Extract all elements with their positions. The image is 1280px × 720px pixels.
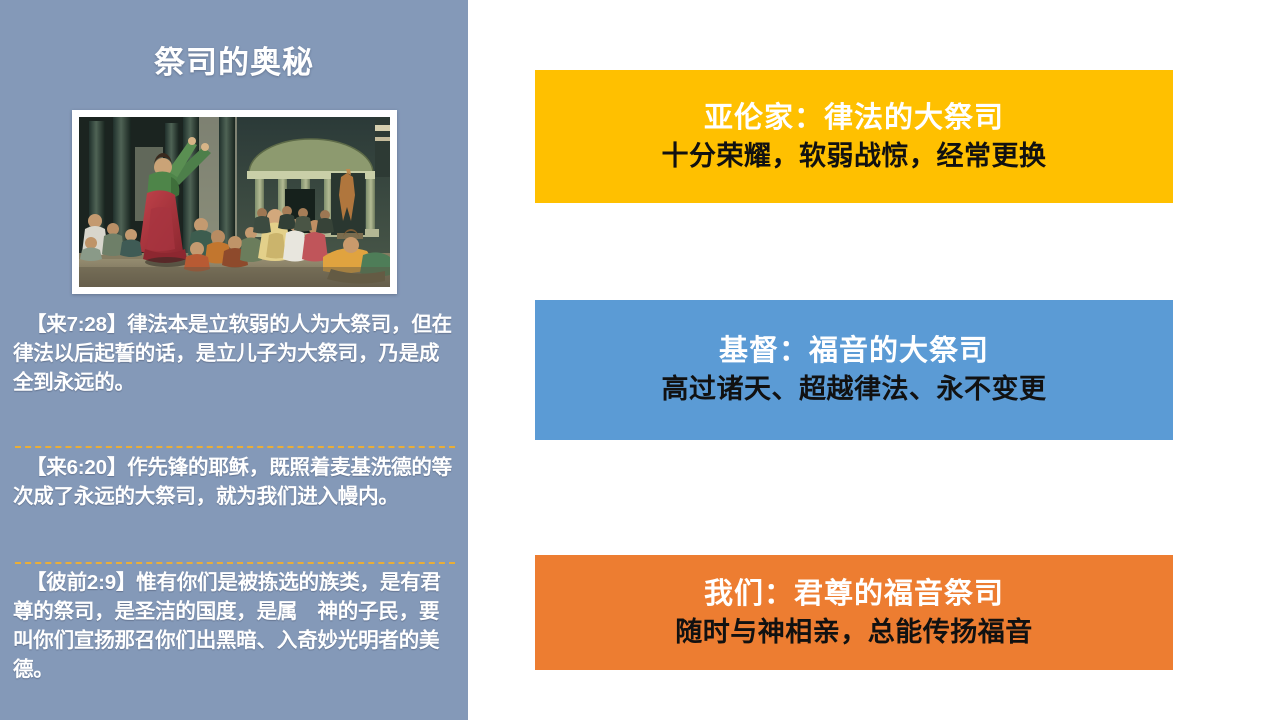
scripture-text: 【彼前2:9】惟有你们是被拣选的族类，是有君尊的祭司，是圣洁的国度，是属 神的子… <box>0 568 468 684</box>
scripture-block-hebrews-7-28: 【来7:28】律法本是立软弱的人为大祭司，但在律法以后起誓的话，是立儿子为大祭司… <box>0 310 468 397</box>
callout-christ-priesthood: 基督：福音的大祭司 高过诸天、超越律法、永不变更 <box>535 300 1173 440</box>
callout-heading: 基督：福音的大祭司 <box>719 333 989 369</box>
scripture-block-1peter-2-9: 【彼前2:9】惟有你们是被拣选的族类，是有君尊的祭司，是圣洁的国度，是属 神的子… <box>0 568 468 684</box>
callout-aaron-priesthood: 亚伦家：律法的大祭司 十分荣耀，软弱战惊，经常更换 <box>535 70 1173 203</box>
callout-subheading: 十分荣耀，软弱战惊，经常更换 <box>662 140 1047 174</box>
callout-subheading: 高过诸天、超越律法、永不变更 <box>662 373 1047 407</box>
callout-subheading: 随时与神相亲，总能传扬福音 <box>675 616 1033 650</box>
artwork-frame <box>72 110 397 294</box>
slide-canvas: 祭司的奥秘 <box>0 0 1280 720</box>
paul-preaching-painting <box>79 117 390 287</box>
sidebar-panel: 祭司的奥秘 <box>0 0 468 720</box>
callout-heading: 我们：君尊的福音祭司 <box>704 576 1004 612</box>
callout-heading: 亚伦家：律法的大祭司 <box>704 100 1004 136</box>
scripture-block-hebrews-6-20: 【来6:20】作先锋的耶稣，既照着麦基洗德的等次成了永远的大祭司，就为我们进入幔… <box>0 453 468 511</box>
scripture-text: 【来6:20】作先锋的耶稣，既照着麦基洗德的等次成了永远的大祭司，就为我们进入幔… <box>0 453 468 511</box>
callout-our-priesthood: 我们：君尊的福音祭司 随时与神相亲，总能传扬福音 <box>535 555 1173 670</box>
page-title: 祭司的奥秘 <box>0 44 468 81</box>
scripture-text: 【来7:28】律法本是立软弱的人为大祭司，但在律法以后起誓的话，是立儿子为大祭司… <box>0 310 468 397</box>
